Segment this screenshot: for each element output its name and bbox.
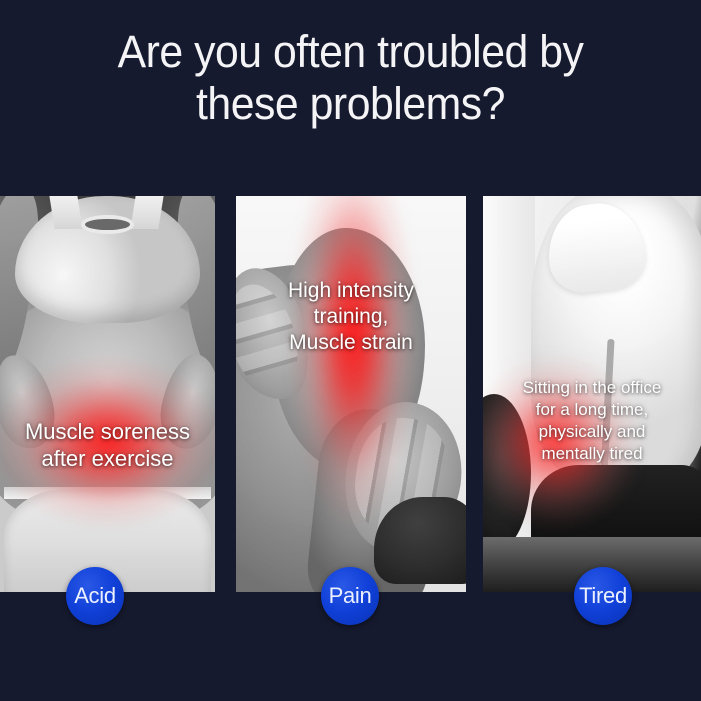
promo-banner: Are you often troubled by these problems… (0, 0, 701, 701)
panel-1-photo (0, 196, 215, 592)
panel-muscle-strain[interactable] (236, 196, 466, 592)
photo-bra-cutout (85, 219, 129, 230)
panel-1-caption: Muscle soreness after exercise (0, 418, 215, 472)
panel-3-caption: Sitting in the office for a long time, p… (483, 377, 701, 465)
badge-pain-label: Pain (329, 585, 372, 607)
panel-2-caption: High intensity training, Muscle strain (236, 278, 466, 356)
photo-bra-strap-right (131, 196, 164, 229)
badge-pain[interactable]: Pain (321, 567, 379, 625)
badge-acid-label: Acid (74, 585, 116, 607)
panel-2-photo (236, 196, 466, 592)
badge-tired-label: Tired (579, 585, 627, 607)
page-title: Are you often troubled by these problems… (18, 26, 684, 130)
badge-tired[interactable]: Tired (574, 567, 632, 625)
photo-bra-strap-left (49, 196, 82, 229)
badge-acid[interactable]: Acid (66, 567, 124, 625)
panel-muscle-soreness[interactable] (0, 196, 215, 592)
